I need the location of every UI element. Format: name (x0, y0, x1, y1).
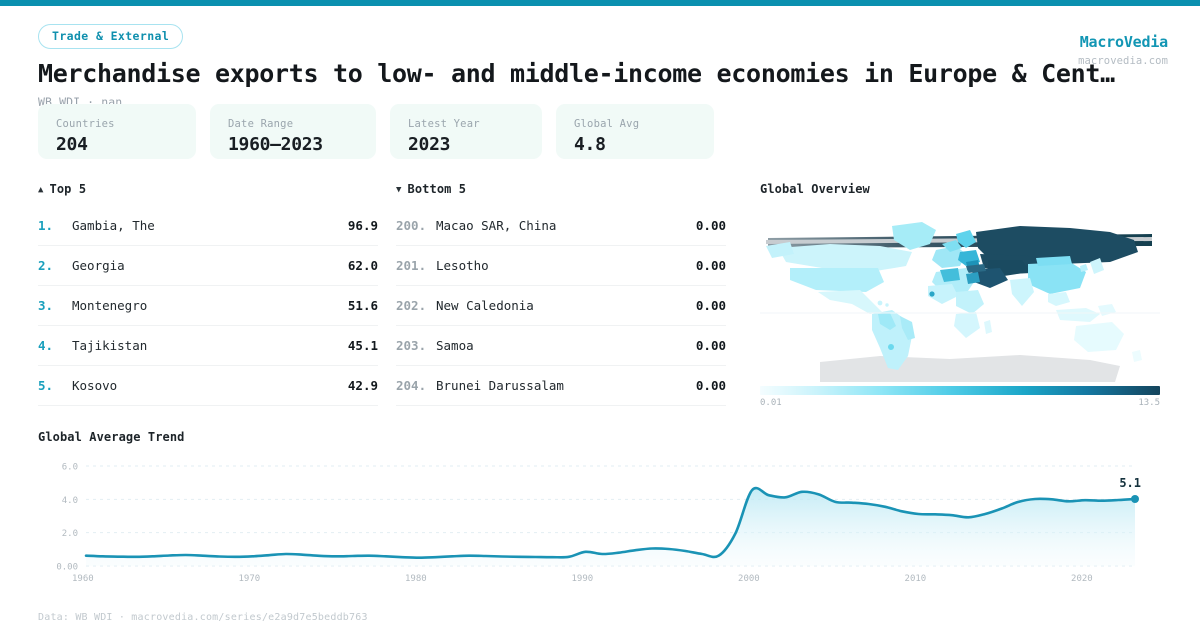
table-row[interactable]: 202. New Caledonia 0.00 (396, 286, 726, 326)
table-row[interactable]: 200. Macao SAR, China 0.00 (396, 206, 726, 246)
trend-panel: Global Average Trend 0.002.04.06.0 5.1 1… (38, 430, 1163, 592)
world-choropleth-map[interactable] (760, 210, 1160, 400)
row-value: 0.00 (696, 378, 726, 393)
row-rank: 4. (38, 338, 72, 353)
row-value: 42.9 (348, 378, 378, 393)
legend-labels: 0.01 13.5 (760, 398, 1160, 408)
row-country: Brunei Darussalam (436, 378, 696, 393)
table-row[interactable]: 5. Kosovo 42.9 (38, 366, 378, 406)
map-svg (760, 210, 1160, 400)
row-country: Georgia (72, 258, 348, 273)
stat-card-latest-year: Latest Year 2023 (390, 104, 542, 159)
row-country: New Caledonia (436, 298, 696, 313)
brand: MacroVedia macrovedia.com (1078, 33, 1168, 67)
stat-label: Global Avg (574, 118, 696, 130)
brand-name: MacroVedia (1078, 33, 1168, 51)
table-row[interactable]: 201. Lesotho 0.00 (396, 246, 726, 286)
table-row[interactable]: 1. Gambia, The 96.9 (38, 206, 378, 246)
row-country: Tajikistan (72, 338, 348, 353)
trend-x-tick-label: 1960 (72, 574, 94, 584)
stat-card-countries: Countries 204 (38, 104, 196, 159)
stat-label: Countries (56, 118, 178, 130)
row-value: 51.6 (348, 298, 378, 313)
infographic-card: Trade & External Merchandise exports to … (0, 0, 1200, 630)
stat-value: 2023 (408, 134, 524, 155)
row-rank: 5. (38, 378, 72, 393)
row-rank: 204. (396, 378, 436, 393)
row-rank: 1. (38, 218, 72, 233)
row-country: Kosovo (72, 378, 348, 393)
row-rank: 201. (396, 258, 436, 273)
global-overview-panel: Global Overview (760, 182, 1160, 400)
trend-x-tick-label: 1980 (405, 574, 427, 584)
top-5-panel: ▲Top 5 1. Gambia, The 96.9 2. Georgia 62… (38, 182, 378, 406)
top-5-rows: 1. Gambia, The 96.9 2. Georgia 62.0 3. M… (38, 206, 378, 406)
row-country: Samoa (436, 338, 696, 353)
trend-end-point (1131, 495, 1139, 503)
trend-x-tick-label: 2020 (1071, 574, 1093, 584)
bottom-5-heading: ▼Bottom 5 (396, 182, 726, 196)
bottom-5-title: Bottom 5 (408, 182, 467, 196)
row-rank: 3. (38, 298, 72, 313)
svg-text:4.0: 4.0 (62, 496, 78, 506)
table-row[interactable]: 204. Brunei Darussalam 0.00 (396, 366, 726, 406)
stat-value: 1960–2023 (228, 134, 358, 155)
table-row[interactable]: 203. Samoa 0.00 (396, 326, 726, 366)
row-rank: 202. (396, 298, 436, 313)
legend-gradient-bar (760, 386, 1160, 395)
stat-card-group: Countries 204 Date Range 1960–2023 Lates… (38, 104, 714, 159)
legend-min-label: 0.01 (760, 398, 782, 408)
brand-url: macrovedia.com (1078, 55, 1168, 67)
row-country: Macao SAR, China (436, 218, 696, 233)
stat-value: 204 (56, 134, 178, 155)
svg-text:6.0: 6.0 (62, 463, 78, 473)
table-row[interactable]: 2. Georgia 62.0 (38, 246, 378, 286)
stat-value: 4.8 (574, 134, 696, 155)
row-value: 96.9 (348, 218, 378, 233)
trend-y-tick-labels: 0.002.04.06.0 (56, 463, 78, 573)
table-row[interactable]: 3. Montenegro 51.6 (38, 286, 378, 326)
header: Trade & External Merchandise exports to … (38, 24, 1168, 109)
trend-svg: 0.002.04.06.0 5.1 (38, 454, 1163, 574)
row-country: Montenegro (72, 298, 348, 313)
row-rank: 203. (396, 338, 436, 353)
legend-max-label: 13.5 (1138, 398, 1160, 408)
stat-label: Latest Year (408, 118, 524, 130)
top-5-title: Top 5 (50, 182, 87, 196)
map-title: Global Overview (760, 182, 1160, 196)
page-title: Merchandise exports to low- and middle-i… (38, 60, 1168, 88)
trend-x-tick-label: 2000 (738, 574, 760, 584)
row-value: 0.00 (696, 218, 726, 233)
top-5-heading: ▲Top 5 (38, 182, 378, 196)
trend-chart[interactable]: 0.002.04.06.0 5.1 (38, 454, 1163, 574)
trend-x-tick-label: 1970 (239, 574, 261, 584)
top-accent-bar (0, 0, 1200, 6)
row-rank: 200. (396, 218, 436, 233)
trend-end-label: 5.1 (1119, 476, 1141, 490)
trend-x-tick-label: 2010 (905, 574, 927, 584)
row-value: 0.00 (696, 258, 726, 273)
bottom-5-panel: ▼Bottom 5 200. Macao SAR, China 0.00 201… (396, 182, 726, 406)
row-value: 62.0 (348, 258, 378, 273)
stat-card-global-avg: Global Avg 4.8 (556, 104, 714, 159)
caret-up-icon: ▲ (38, 185, 44, 195)
trend-x-axis: 1960197019801990200020102020 (38, 574, 1163, 592)
svg-text:0.00: 0.00 (56, 563, 78, 573)
row-value: 45.1 (348, 338, 378, 353)
row-value: 0.00 (696, 298, 726, 313)
row-country: Gambia, The (72, 218, 348, 233)
bottom-5-rows: 200. Macao SAR, China 0.00 201. Lesotho … (396, 206, 726, 406)
stat-card-date-range: Date Range 1960–2023 (210, 104, 376, 159)
stat-label: Date Range (228, 118, 358, 130)
trend-title: Global Average Trend (38, 430, 1163, 444)
row-rank: 2. (38, 258, 72, 273)
row-country: Lesotho (436, 258, 696, 273)
trend-x-tick-label: 1990 (572, 574, 594, 584)
caret-down-icon: ▼ (396, 185, 402, 195)
category-badge: Trade & External (38, 24, 183, 49)
row-value: 0.00 (696, 338, 726, 353)
map-color-legend: 0.01 13.5 (760, 386, 1160, 408)
table-row[interactable]: 4. Tajikistan 45.1 (38, 326, 378, 366)
svg-text:2.0: 2.0 (62, 529, 78, 539)
footer-source: Data: WB WDI · macrovedia.com/series/e2a… (38, 612, 368, 623)
